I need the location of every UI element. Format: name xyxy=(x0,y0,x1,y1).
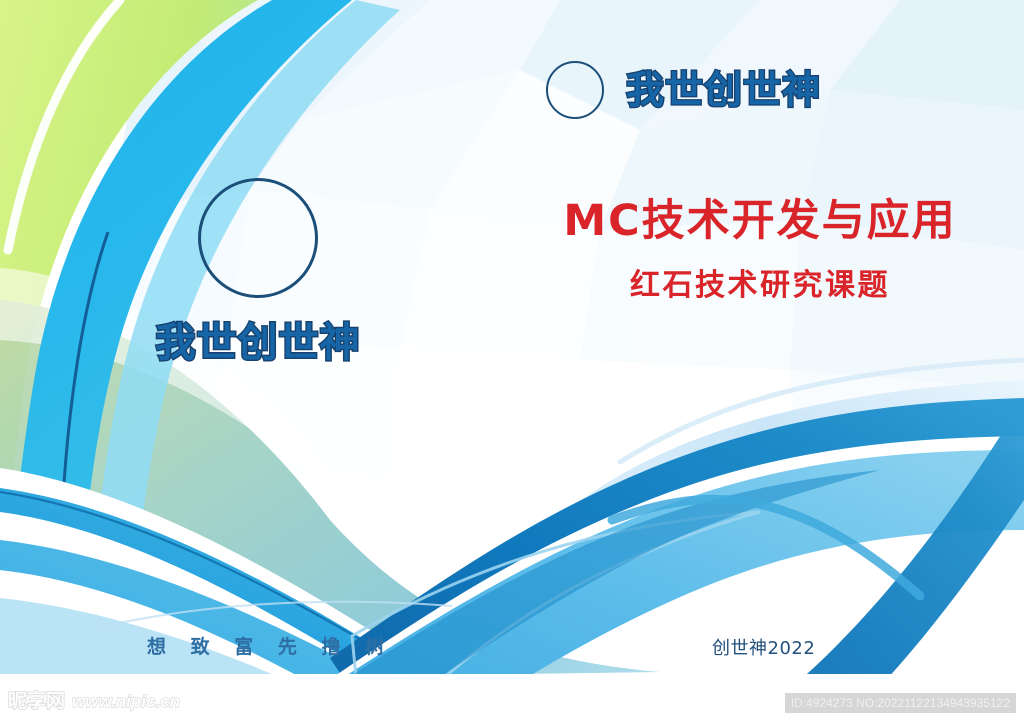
brand-lockup-left: 我世创世神 xyxy=(138,178,378,363)
sub-title: 红石技术研究课题 xyxy=(500,269,1020,302)
brand-name-top: 我世创世神 xyxy=(626,71,821,109)
circle-ring-icon xyxy=(546,61,604,119)
brand-lockup-top: 我世创世神 xyxy=(546,61,821,119)
main-title: MC技术开发与应用 xyxy=(500,198,1020,245)
nipic-url-text: www.nipic.cn xyxy=(72,693,180,710)
poster-canvas: 我世创世神 我世创世神 MC技术开发与应用 红石技术研究课题 想 致 富 先 撸… xyxy=(0,0,1024,724)
asset-id-badge: ID:4924273 NO:20221122134943935122 xyxy=(785,693,1016,713)
footer-slogan-left: 想 致 富 先 撸 树 xyxy=(147,632,393,659)
footer-slogan-right: 创世神2022 xyxy=(712,634,815,660)
brand-name-left: 我世创世神 xyxy=(156,323,361,363)
title-block: MC技术开发与应用 红石技术研究课题 xyxy=(500,198,1020,302)
circle-ring-large-icon xyxy=(198,178,318,298)
nipic-watermark: 昵享网 www.nipic.cn xyxy=(8,692,180,711)
nipic-logo-text: 昵享网 xyxy=(8,692,65,711)
